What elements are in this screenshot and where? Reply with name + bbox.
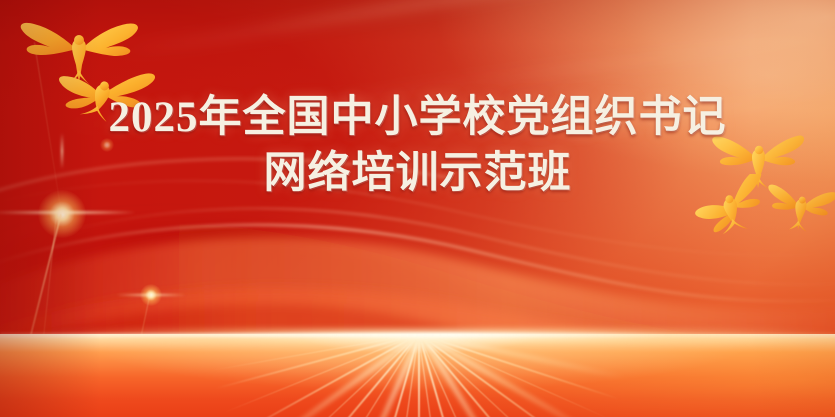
banner-title-line-2: 网络培训示范班 [0,148,835,200]
banner-title: 2025年全国中小学校党组织书记 网络培训示范班 [0,92,835,201]
banner-title-line-1: 2025年全国中小学校党组织书记 [0,92,835,144]
training-banner: 2025年全国中小学校党组织书记 网络培训示范班 [0,0,835,417]
edge-vignette [0,0,835,417]
